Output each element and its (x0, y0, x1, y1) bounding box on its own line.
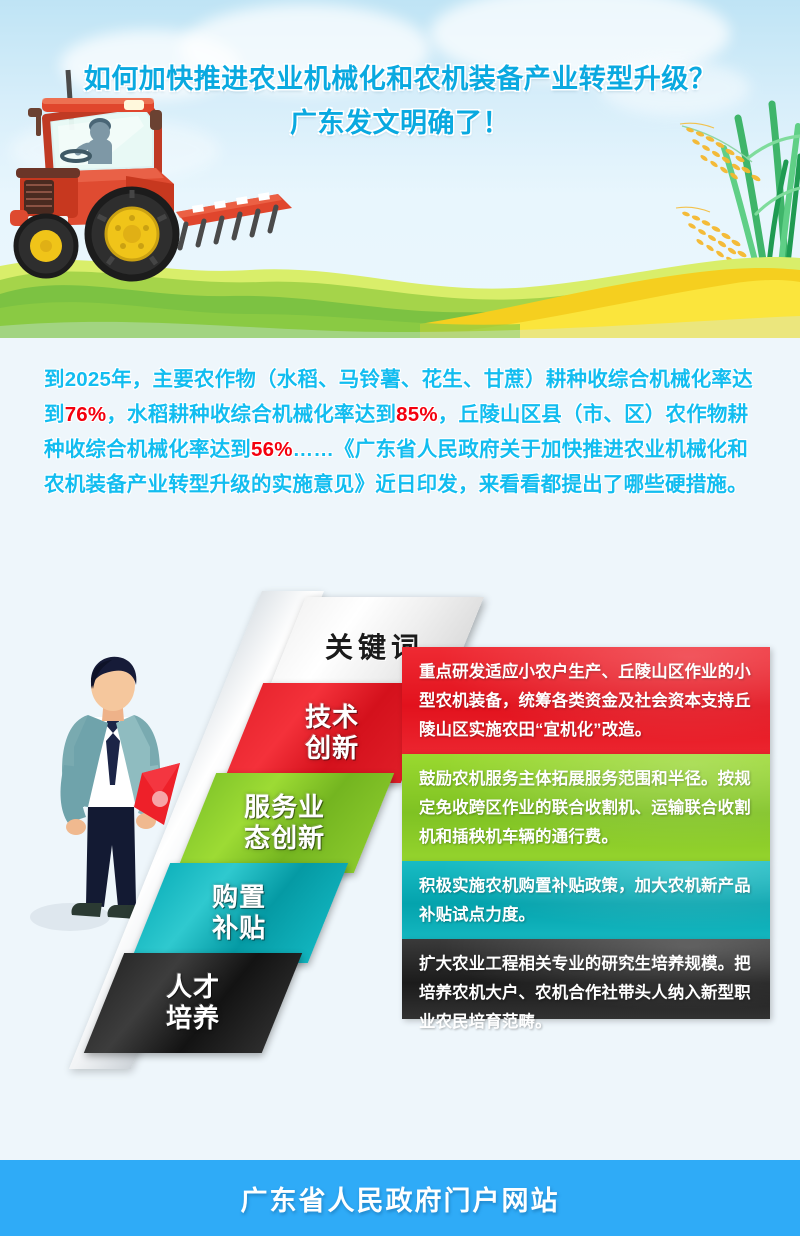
tier-key-label: 购置 补贴 (212, 882, 266, 943)
tier-content-text: 重点研发适应小农户生产、丘陵山区作业的小型农机装备，统筹各类资金及社会资本支持丘… (419, 663, 751, 739)
tier-content-text: 鼓励农机服务主体拓展服务范围和半径。按规定免收跨区作业的联合收割机、运输联合收割… (419, 770, 751, 846)
key-points-pyramid: 关键词 技术 创新 重点研发适应小农户生产、丘陵山区作业的小型农机装备，统筹各类… (0, 585, 800, 1085)
panel-sheen (402, 861, 770, 939)
tier-key-line-2: 培养 (166, 1003, 220, 1033)
tractor-icon (6, 56, 306, 286)
intro-segment-2: ，水稻耕种收综合机械化率达到 (106, 403, 396, 426)
tier-key-line-1: 人才 (166, 972, 220, 1002)
tier-key-line-1: 服务业 (244, 792, 325, 822)
intro-pct-1: 76% (65, 403, 107, 426)
infographic-page: 如何加快推进农业机械化和农机装备产业转型升级？ 广东发文明确了！ 到2025年，… (0, 0, 800, 1236)
tier-content-talent-development: 扩大农业工程相关专业的研究生培养规模。把培养农机大户、农机合作社带头人纳入新型职… (402, 939, 770, 1019)
footer-site-name: 广东省人民政府门户网站 (241, 1179, 560, 1218)
tier-key-label: 服务业 态创新 (244, 792, 325, 853)
header-banner: 如何加快推进农业机械化和农机装备产业转型升级？ 广东发文明确了！ (0, 0, 800, 338)
tier-content-purchase-subsidy: 积极实施农机购置补贴政策，加大农机新产品补贴试点力度。 (402, 861, 770, 939)
tier-content-technology-innovation: 重点研发适应小农户生产、丘陵山区作业的小型农机装备，统筹各类资金及社会资本支持丘… (402, 647, 770, 754)
tier-content-service-format-innovation: 鼓励农机服务主体拓展服务范围和半径。按规定免收跨区作业的联合收割机、运输联合收割… (402, 754, 770, 861)
intro-pct-2: 85% (396, 403, 438, 426)
tier-key-line-2: 补贴 (212, 913, 266, 943)
intro-pct-3: 56% (251, 438, 293, 461)
tier-key-label: 技术 创新 (305, 702, 359, 763)
tier-key-label: 人才 培养 (166, 972, 220, 1033)
tier-key-line-1: 技术 (305, 702, 359, 732)
tier-key-line-2: 态创新 (244, 823, 325, 853)
tier-content-text: 扩大农业工程相关专业的研究生培养规模。把培养农机大户、农机合作社带头人纳入新型职… (419, 955, 751, 1031)
panel-sheen (402, 939, 770, 1019)
tier-key-line-2: 创新 (305, 733, 359, 763)
footer-bar: 广东省人民政府门户网站 (0, 1160, 800, 1236)
tier-key-line-1: 购置 (212, 882, 266, 912)
intro-paragraph: 到2025年，主要农作物（水稻、马铃薯、花生、甘蔗）耕种收综合机械化率达到76%… (44, 362, 760, 502)
tier-content-text: 积极实施农机购置补贴政策，加大农机新产品补贴试点力度。 (419, 877, 751, 924)
